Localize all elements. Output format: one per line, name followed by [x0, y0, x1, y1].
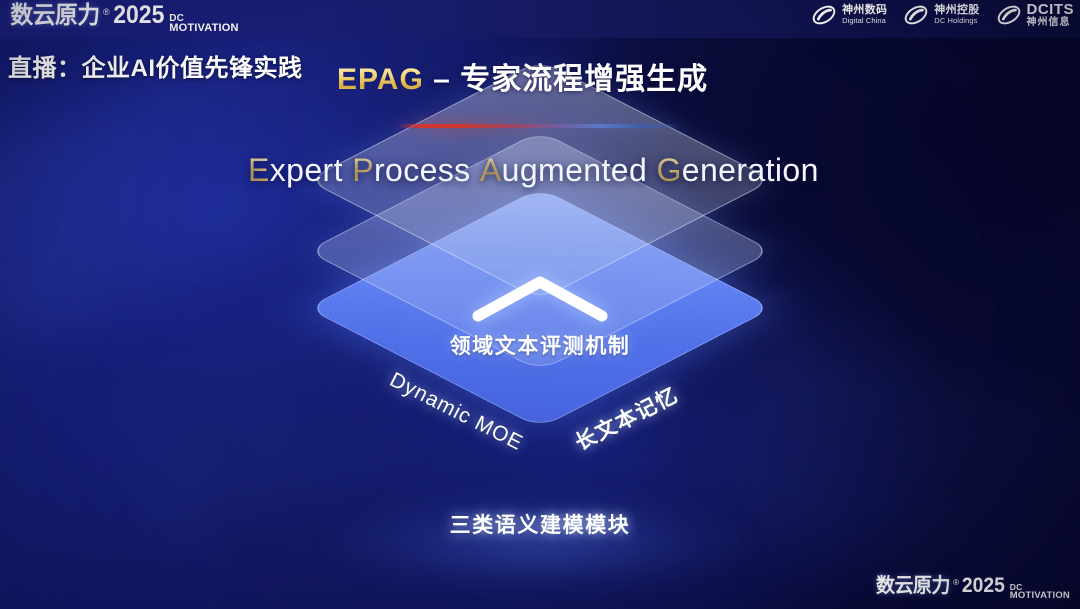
page-title-accent: EPAG [337, 63, 424, 96]
title-divider [398, 124, 681, 128]
footer-watermark-logo: 数云原力 ® 2025 DC MOTIVATION [874, 575, 1070, 603]
subtitle-body-augmented: ugmented [502, 152, 648, 188]
watermark-year: 2025 [962, 575, 1005, 596]
watermark-name-cn: 数云原力 [876, 576, 950, 596]
swirl-logo-icon [996, 2, 1022, 28]
watermark-motivation-text: MOTIVATION [1010, 592, 1070, 601]
header-bar: 数云原力 ® 2025 DC MOTIVATION 神州数码 Digital C… [0, 0, 1080, 38]
layer-bottom-label: 三类语义建模模块 [450, 509, 631, 539]
partner-label: 神州控股 DC Holdings [934, 5, 979, 24]
live-banner-text: 直播：企业AI价值先锋实践 [8, 48, 303, 83]
swirl-logo-icon [903, 2, 929, 28]
partner-logo-group: 神州数码 Digital China 神州控股 DC Holdings [811, 2, 1074, 28]
slide-canvas: 数云原力 ® 2025 DC MOTIVATION 神州数码 Digital C… [0, 0, 1080, 609]
watermark-registered-mark: ® [953, 578, 959, 587]
subtitle-body-process: rocess [374, 152, 471, 188]
partner-label: 神州数码 Digital China [842, 5, 887, 24]
partner-logo-dc-holdings: 神州控股 DC Holdings [903, 2, 979, 28]
partner-name-en: DC Holdings [934, 17, 979, 25]
partner-name-en: 神州信息 [1027, 18, 1075, 29]
subtitle-body-expert: xpert [270, 152, 343, 188]
subtitle-body-generation: eneration [682, 152, 819, 188]
brand-motivation-text: MOTIVATION [169, 23, 238, 33]
subtitle-space [343, 152, 352, 188]
page-title-rest: – 专家流程增强生成 [424, 63, 708, 96]
brand-dc-motivation: DC MOTIVATION [169, 14, 238, 33]
subtitle-space [471, 152, 480, 188]
partner-label: DCITS 神州信息 [1027, 2, 1075, 28]
brand-name-cn: 数云原力 [10, 4, 99, 28]
brand-logo: 数云原力 ® 2025 DC MOTIVATION [8, 3, 239, 35]
registered-mark: ® [103, 7, 110, 17]
page-title: EPAG – 专家流程增强生成 [337, 54, 708, 98]
layer-top-label: 领域文本评测机制 [450, 330, 631, 360]
partner-name-cn: DCITS [1027, 2, 1075, 18]
watermark-dc-motivation: DC MOTIVATION [1010, 584, 1070, 601]
subtitle-cap-a: A [480, 152, 502, 188]
partner-name-en: Digital China [842, 17, 887, 25]
chevron-up-icon [470, 272, 610, 324]
partner-logo-dcits: DCITS 神州信息 [996, 2, 1075, 28]
partner-logo-digital-china: 神州数码 Digital China [811, 2, 887, 28]
swirl-logo-icon [811, 2, 837, 28]
brand-year: 2025 [113, 3, 164, 28]
subtitle-cap-p: P [352, 152, 374, 188]
subtitle-english: Expert Process Augmented Generation [248, 152, 819, 189]
subtitle-cap-g: G [656, 152, 681, 188]
subtitle-cap-e: E [248, 152, 270, 188]
